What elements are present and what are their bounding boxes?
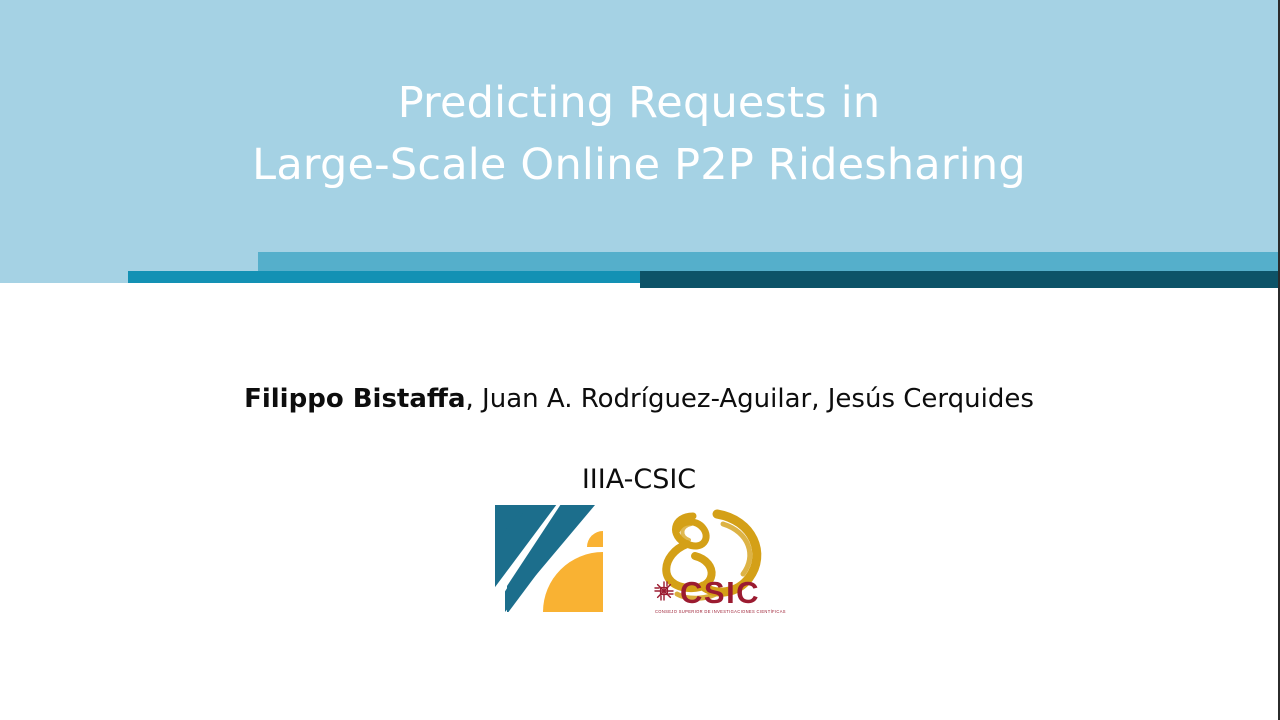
csic-80-logo: CSIC CONSEJO SUPERIOR DE INVESTIGACIONES…	[633, 502, 788, 617]
decorative-bar-dark	[640, 271, 1278, 288]
lead-author-name: Filippo Bistaffa	[244, 384, 465, 414]
affiliation-text: IIIA-CSIC	[0, 464, 1278, 495]
csic-wordmark: CSIC	[680, 575, 760, 610]
logo-row: CSIC CONSEJO SUPERIOR DE INVESTIGACIONES…	[0, 502, 1278, 617]
decorative-bar-medium	[258, 252, 1278, 271]
slide-body: Filippo Bistaffa, Juan A. Rodríguez-Agui…	[0, 288, 1278, 720]
title-line-2: Large-Scale Online P2P Ridesharing	[0, 134, 1278, 196]
title-line-1: Predicting Requests in	[0, 72, 1278, 134]
presentation-slide: Predicting Requests in Large-Scale Onlin…	[0, 0, 1280, 720]
author-list: Filippo Bistaffa, Juan A. Rodríguez-Agui…	[0, 384, 1278, 414]
slide-header-band: Predicting Requests in Large-Scale Onlin…	[0, 0, 1278, 283]
csic-snowflake-icon	[655, 582, 673, 600]
slide-title: Predicting Requests in Large-Scale Onlin…	[0, 72, 1278, 196]
csic-tagline: CONSEJO SUPERIOR DE INVESTIGACIONES CIEN…	[655, 609, 786, 614]
iiia-logo	[491, 502, 607, 615]
coauthor-names: , Juan A. Rodríguez-Aguilar, Jesús Cerqu…	[466, 384, 1034, 414]
